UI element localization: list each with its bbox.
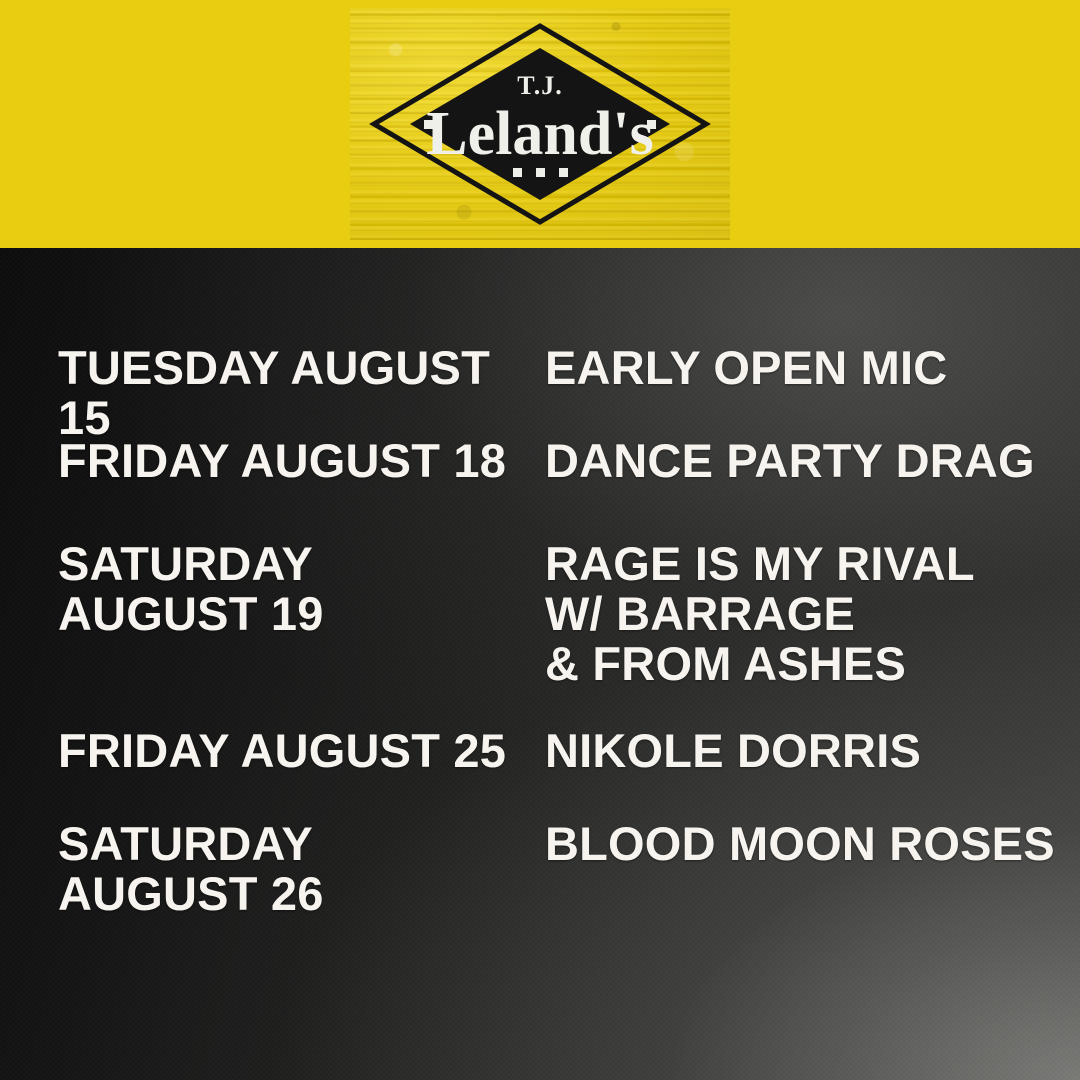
event-date: TUESDAY AUGUST 15: [58, 343, 545, 443]
event-row: FRIDAY AUGUST 25 NIKOLE DORRIS: [58, 726, 1060, 776]
event-date: FRIDAY AUGUST 25: [58, 726, 545, 776]
event-title: EARLY OPEN MIC: [545, 343, 1060, 393]
event-title: RAGE IS MY RIVAL W/ BARRAGE & FROM ASHES: [545, 539, 1060, 689]
event-title: DANCE PARTY DRAG: [545, 436, 1060, 486]
event-date: SATURDAY AUGUST 26: [58, 819, 545, 919]
poster-canvas: T.J. Leland's TUESDAY AUGUST 15 EARLY OP…: [0, 0, 1080, 1080]
svg-text:T.J.: T.J.: [517, 71, 562, 100]
header-band: T.J. Leland's: [0, 0, 1080, 248]
event-date: FRIDAY AUGUST 18: [58, 436, 545, 486]
event-title: NIKOLE DORRIS: [545, 726, 1060, 776]
svg-text:Leland's: Leland's: [426, 100, 653, 168]
event-schedule-list: TUESDAY AUGUST 15 EARLY OPEN MIC FRIDAY …: [0, 248, 1080, 1080]
event-row: TUESDAY AUGUST 15 EARLY OPEN MIC: [58, 343, 1060, 443]
tj-lelands-logo-icon: T.J. Leland's: [350, 8, 730, 240]
logo-panel: T.J. Leland's: [350, 8, 730, 240]
event-row: FRIDAY AUGUST 18 DANCE PARTY DRAG: [58, 436, 1060, 486]
event-row: SATURDAY AUGUST 19 RAGE IS MY RIVAL W/ B…: [58, 539, 1060, 689]
schedule-background: TUESDAY AUGUST 15 EARLY OPEN MIC FRIDAY …: [0, 248, 1080, 1080]
event-date: SATURDAY AUGUST 19: [58, 539, 545, 639]
event-row: SATURDAY AUGUST 26 BLOOD MOON ROSES: [58, 819, 1060, 919]
event-title: BLOOD MOON ROSES: [545, 819, 1060, 869]
